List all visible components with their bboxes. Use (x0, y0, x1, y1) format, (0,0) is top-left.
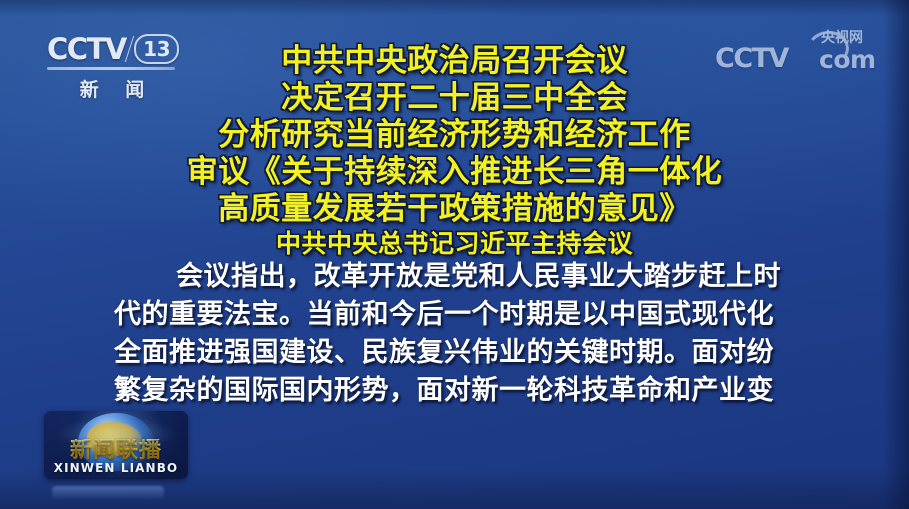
headline-line-2: 决定召开二十届三中全会 (0, 83, 909, 114)
headline-line-1: 中共中央政治局召开会议 (0, 46, 909, 77)
headline-block: 中共中央政治局召开会议 决定召开二十届三中全会 分析研究当前经济形势和经济工作 … (0, 46, 909, 256)
badge-reflection (52, 486, 164, 499)
broadcast-video-frame: CCTV 13 新 闻 CCTV 央视网 com 中共中央政治局召开会议 决定召… (0, 0, 909, 509)
headline-line-4: 审议《关于持续深入推进长三角一体化 (0, 157, 909, 188)
body-line-4: 繁复杂的国际国内形势，面对新一轮科技革命和产业变 (114, 372, 796, 410)
body-line-3: 全面推进强国建设、民族复兴伟业的关键时期。面对纷 (114, 334, 796, 372)
headline-line-5: 高质量发展若干政策措施的意见》 (0, 194, 909, 225)
frame-top-vignette (0, 0, 909, 16)
watermark-site-name-cn: 央视网 (821, 31, 863, 46)
body-line-1: 会议指出，改革开放是党和人民事业大踏步赶上时 (114, 258, 796, 296)
headline-subline: 中共中央总书记习近平主持会议 (0, 231, 909, 256)
program-title-cn: 新闻联播 (44, 439, 188, 463)
xinwen-lianbo-badge: 新闻联播 XINWEN LIANBO (44, 411, 188, 479)
program-title-en: XINWEN LIANBO (44, 462, 188, 475)
headline-line-3: 分析研究当前经济形势和经济工作 (0, 120, 909, 151)
body-paragraph: 会议指出，改革开放是党和人民事业大踏步赶上时 代的重要法宝。当前和今后一个时期是… (114, 258, 796, 410)
body-line-2: 代的重要法宝。当前和今后一个时期是以中国式现代化 (114, 296, 796, 334)
